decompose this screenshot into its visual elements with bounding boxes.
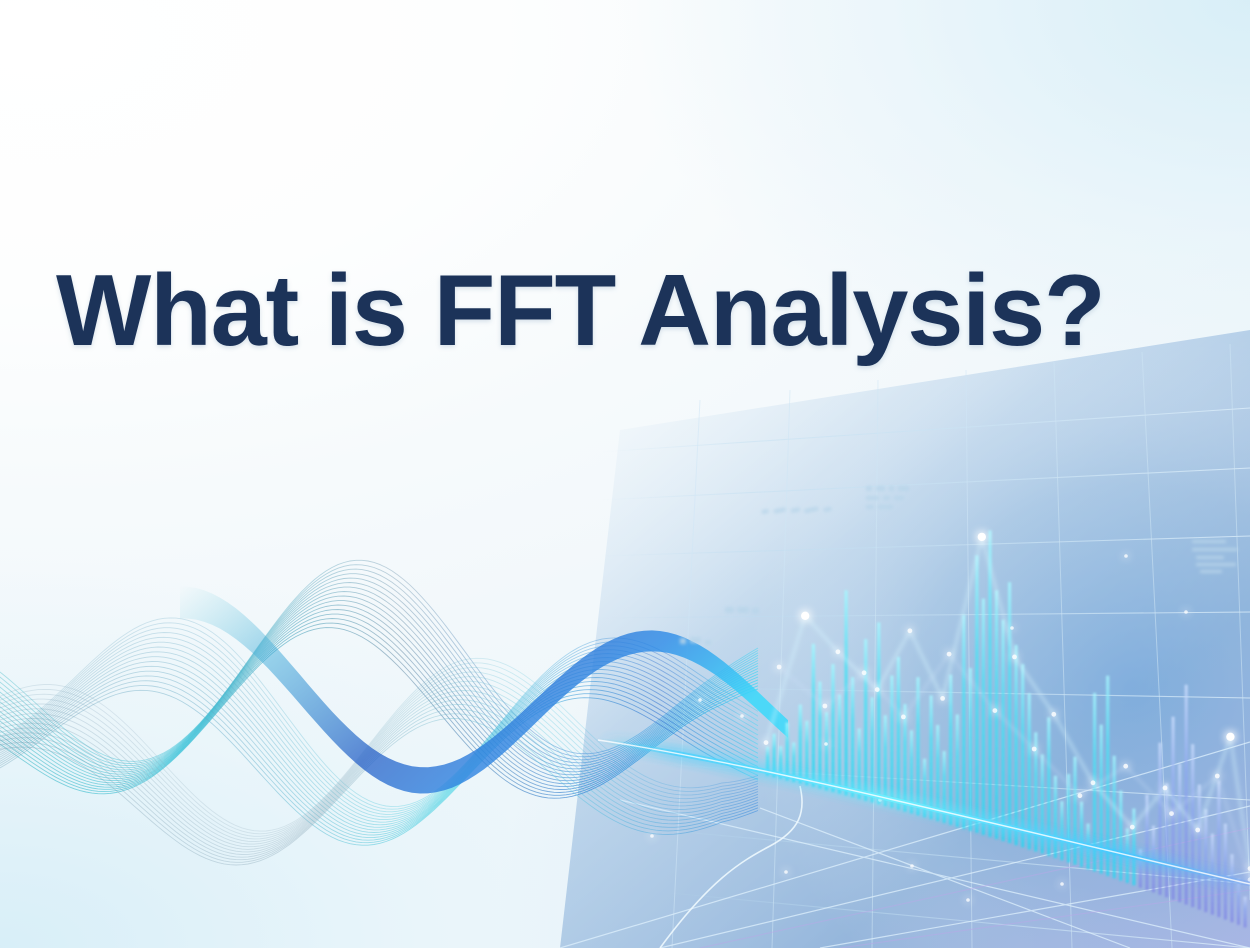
hud-text-fragments bbox=[0, 0, 1250, 948]
hero-banner: What is FFT Analysis? bbox=[0, 0, 1250, 948]
